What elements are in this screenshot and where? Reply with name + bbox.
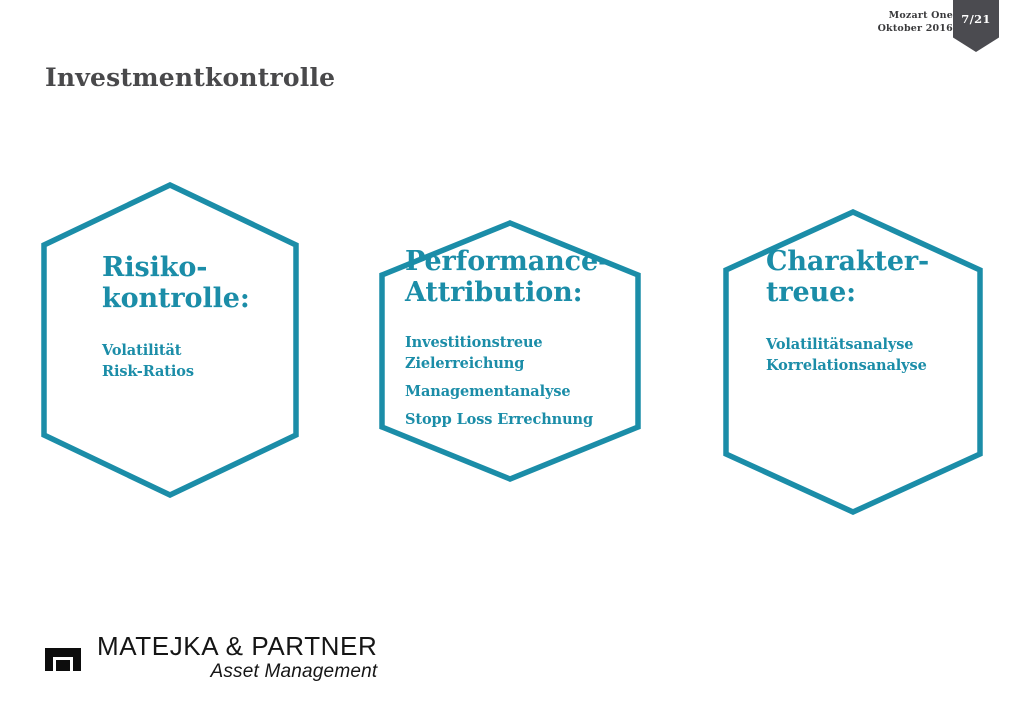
list-item: Investitionstreue	[405, 332, 631, 353]
list-item: Volatilitätsanalyse	[766, 334, 973, 355]
list-item: Risk-Ratios	[102, 361, 289, 382]
hexagon-heading: Risiko- kontrolle:	[102, 252, 289, 314]
logo-text: MATEJKA & PARTNER Asset Management	[97, 633, 377, 681]
page-number-badge: 7/21	[953, 0, 999, 52]
hexagon-card-risikokontrolle: Risiko- kontrolle: Volatilität Risk-Rati…	[41, 182, 299, 498]
hexagon-heading: Charakter- treue:	[766, 246, 973, 308]
hexagon-heading-line1: Risiko-	[102, 252, 289, 283]
hexagon-heading: Performance- Attribution:	[405, 246, 631, 308]
header-date: Oktober 2016	[878, 22, 953, 35]
hexagon-heading-line2: kontrolle:	[102, 283, 289, 314]
hexagon-item-list: Volatilität Risk-Ratios	[102, 340, 289, 382]
hexagon-content: Charakter- treue: Volatilitätsanalyse Ko…	[723, 246, 983, 376]
page-title: Investmentkontrolle	[45, 63, 335, 92]
list-item: Stopp Loss Errechnung	[405, 409, 631, 430]
list-item: Volatilität	[102, 340, 289, 361]
hexagon-heading-line1: Charakter-	[766, 246, 973, 277]
hexagon-item-list: Volatilitätsanalyse Korrelationsanalyse	[766, 334, 973, 376]
company-logo: MATEJKA & PARTNER Asset Management	[45, 633, 377, 681]
hexagon-card-performance-attribution: Performance- Attribution: Investitionstr…	[379, 220, 641, 482]
logo-mark-icon	[45, 641, 81, 671]
slide: Mozart One Oktober 2016 7/21 Investmentk…	[0, 0, 1024, 721]
hexagon-item-list: Investitionstreue Zielerreichung Managem…	[405, 332, 631, 430]
list-item: Managementanalyse	[405, 381, 631, 402]
page-number-label: 7/21	[953, 12, 999, 26]
company-name: MATEJKA & PARTNER	[97, 633, 377, 659]
list-item: Korrelationsanalyse	[766, 355, 973, 376]
hexagon-content: Risiko- kontrolle: Volatilität Risk-Rati…	[41, 252, 299, 382]
hexagon-card-charaktertreue: Charakter- treue: Volatilitätsanalyse Ko…	[723, 209, 983, 515]
logo-mark-core	[56, 660, 70, 671]
hexagon-heading-line2: treue:	[766, 277, 973, 308]
list-item: Zielerreichung	[405, 353, 631, 374]
hexagon-heading-line1: Performance-	[405, 246, 631, 277]
header-meta: Mozart One Oktober 2016	[878, 9, 953, 35]
company-tagline: Asset Management	[97, 662, 377, 681]
hexagon-heading-line2: Attribution:	[405, 277, 631, 308]
hexagon-content: Performance- Attribution: Investitionstr…	[379, 246, 641, 430]
header-product: Mozart One	[878, 9, 953, 22]
